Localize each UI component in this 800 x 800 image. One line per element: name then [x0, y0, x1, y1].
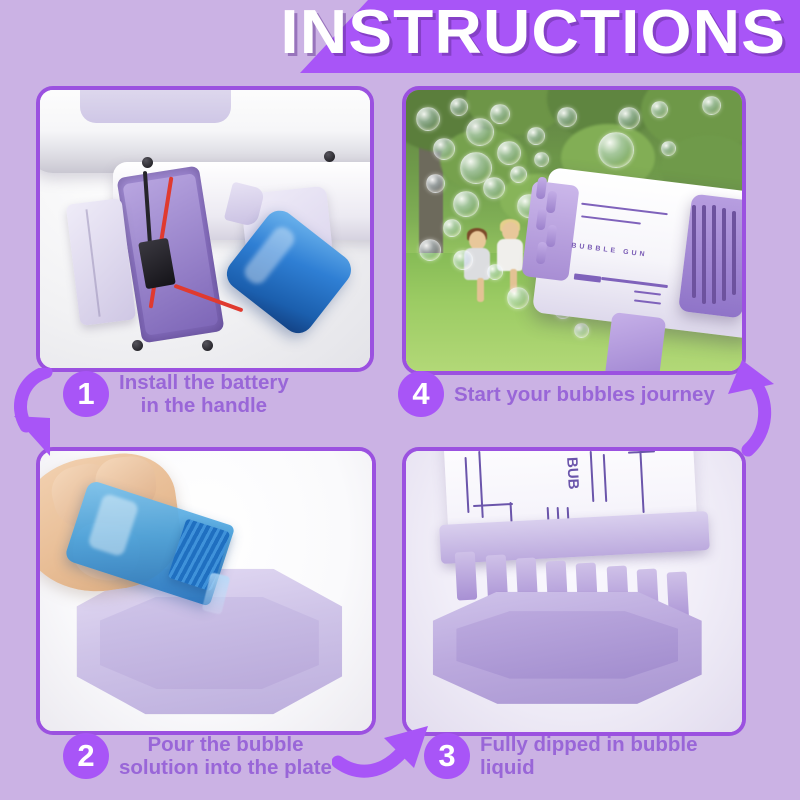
step-label-2-line1: Pour the bubble: [119, 733, 332, 756]
step-badge-1: 1: [63, 371, 109, 417]
arrow-step1-to-step2-icon: [6, 368, 68, 460]
step-badge-2: 2: [63, 733, 109, 779]
photo-children-bubbles-park: BUBBLE GUN: [406, 90, 742, 371]
photo-pour-solution: [40, 451, 372, 731]
step-label-1: Install the battery in the handle: [119, 371, 289, 417]
step-label-3-line1: Fully dipped in bubble liquid: [480, 733, 754, 779]
step-label-2: Pour the bubble solution into the plate: [119, 733, 332, 779]
step-caption-4: 4 Start your bubbles journey: [398, 371, 728, 417]
step-label-4-line1: Start your bubbles journey: [454, 383, 715, 406]
step-label-2-line2: solution into the plate: [119, 756, 332, 779]
photo-panel-step-2: [36, 447, 376, 735]
step-badge-4: 4: [398, 371, 444, 417]
step-caption-1: 1 Install the battery in the handle: [63, 371, 363, 417]
step-label-1-line2: in the handle: [119, 394, 289, 417]
product-partial-label: BUB: [563, 456, 582, 489]
arrow-step3-to-step4-icon: [722, 358, 786, 458]
photo-panel-step-1: [36, 86, 374, 372]
step-caption-2: 2 Pour the bubble solution into the plat…: [63, 733, 363, 779]
photo-battery-install: [40, 90, 370, 368]
step-label-4: Start your bubbles journey: [454, 383, 715, 406]
instruction-sheet: INSTRUCTIONS: [0, 0, 800, 800]
step-caption-3: 3 Fully dipped in bubble liquid: [424, 733, 754, 779]
photo-dip-nozzles: BUB: [406, 451, 742, 732]
photo-panel-step-4: BUBBLE GUN: [402, 86, 746, 375]
step-label-3: Fully dipped in bubble liquid: [480, 733, 754, 779]
arrow-step2-to-step3-icon: [332, 722, 436, 784]
step-label-1-line1: Install the battery: [119, 371, 289, 394]
photo-panel-step-3: BUB: [402, 447, 746, 736]
page-title: INSTRUCTIONS: [280, 0, 786, 70]
